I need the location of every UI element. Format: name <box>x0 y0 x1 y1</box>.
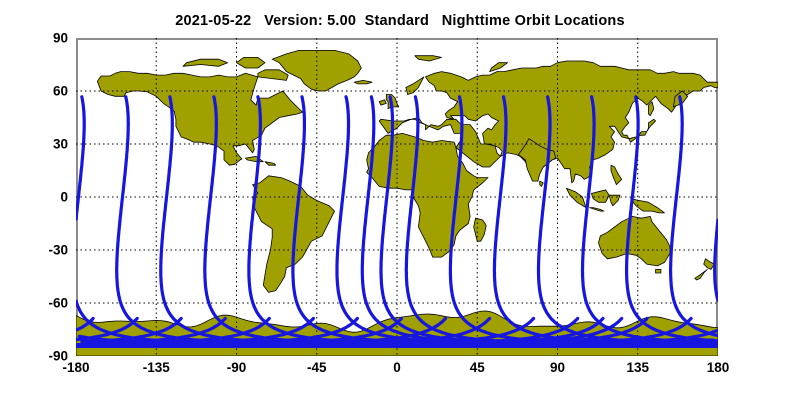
landmass-novaya-zemlya <box>490 63 508 72</box>
landmass-canada-arctic-2 <box>237 57 266 68</box>
x-tick-label: -135 <box>143 360 170 375</box>
landmass-new-zealand-s <box>695 269 708 280</box>
landmass-japan <box>629 119 656 142</box>
landmass-ireland <box>379 100 386 105</box>
landmass-philippines <box>611 165 622 184</box>
orbit-ground-track <box>715 220 718 300</box>
x-tick-label: 45 <box>470 360 485 375</box>
landmass-svalbard <box>415 56 442 61</box>
landmass-sakhalin <box>649 102 654 116</box>
x-tick-label: 0 <box>393 360 401 375</box>
landmass-sri-lanka <box>540 181 544 186</box>
landmass-baffin <box>258 70 288 81</box>
plot-area <box>76 38 718 356</box>
landmass-indonesia-2 <box>590 208 604 212</box>
x-tick-label: 135 <box>626 360 649 375</box>
y-tick-label: 0 <box>8 190 68 205</box>
y-tick-label: 90 <box>8 31 68 46</box>
x-tick-label: -45 <box>307 360 327 375</box>
y-tick-label: -90 <box>8 349 68 364</box>
x-tick-label: 90 <box>550 360 565 375</box>
map-canvas <box>76 38 718 356</box>
landmass-cuba <box>245 156 263 161</box>
landmass-australia <box>599 216 670 266</box>
y-tick-label: 30 <box>8 137 68 152</box>
landmass-new-guinea <box>631 199 665 213</box>
landmass-canada-arctic-1 <box>183 59 228 66</box>
landmass-scandinavia-sea <box>406 77 424 95</box>
landmass-indonesia-1 <box>566 188 586 207</box>
y-tick-label: -30 <box>8 243 68 258</box>
figure-title: 2021-05-22 Version: 5.00 Standard Nightt… <box>0 13 800 29</box>
x-tick-label: -180 <box>62 360 89 375</box>
orbit-ground-track <box>671 97 718 336</box>
landmass-tasmania <box>656 269 661 273</box>
orbit-map-figure: 2021-05-22 Version: 5.00 Standard Nightt… <box>0 0 800 400</box>
x-tick-label: -90 <box>227 360 247 375</box>
landmass-iceland <box>354 80 372 84</box>
landmass-sulawesi <box>609 195 620 206</box>
orbit-ground-track <box>76 97 84 219</box>
landmass-new-zealand-n <box>704 259 715 270</box>
landmass-hispaniola <box>265 162 276 166</box>
y-tick-label: 60 <box>8 84 68 99</box>
x-tick-label: 180 <box>707 360 730 375</box>
landmass-madagascar <box>474 218 487 241</box>
y-tick-label: -60 <box>8 296 68 311</box>
landmass-borneo <box>591 190 609 202</box>
